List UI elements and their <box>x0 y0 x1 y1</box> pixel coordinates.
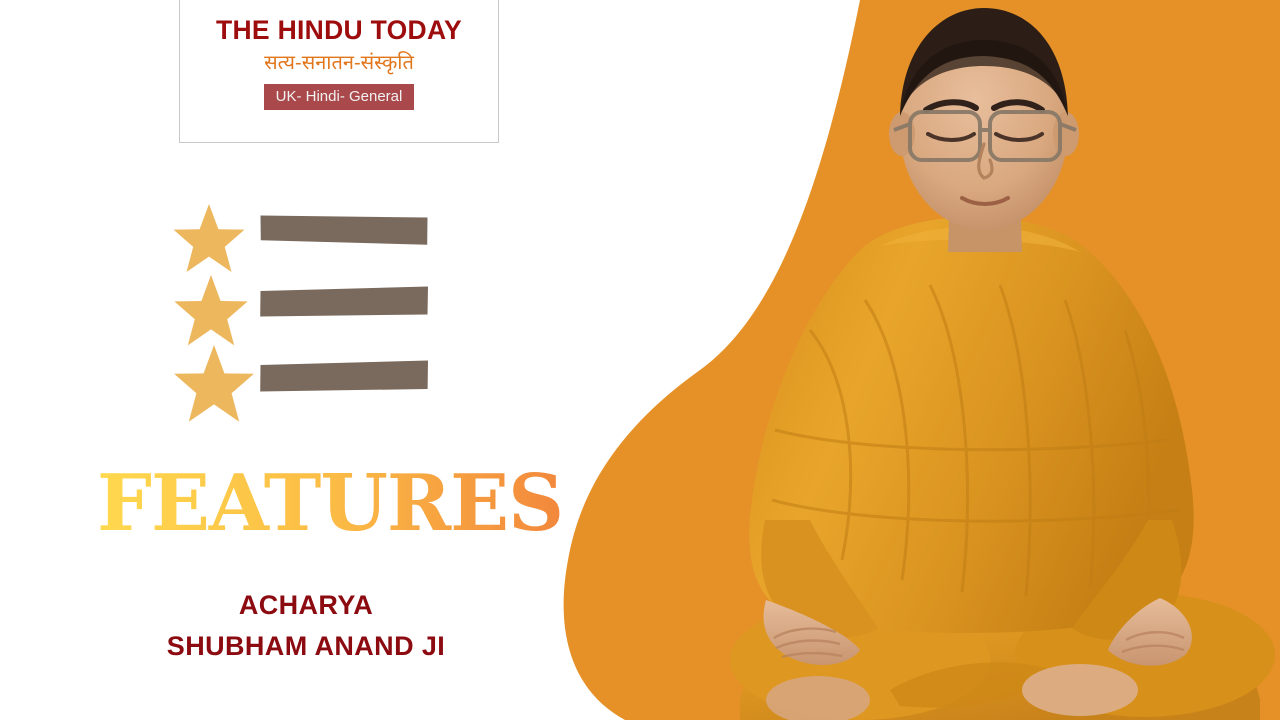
speaker-name-line-2: SHUBHAM ANAND JI <box>0 626 612 667</box>
masthead-card: THE HINDU TODAY सत्य-सनातन-संस्कृति UK- … <box>179 0 499 143</box>
masthead-subtitle: सत्य-सनातन-संस्कृति <box>264 51 414 75</box>
speaker-name-line-1: ACHARYA <box>0 585 612 626</box>
star-icon <box>174 204 245 272</box>
bar-placeholder <box>261 216 428 245</box>
bar-placeholder <box>260 287 428 317</box>
poster-canvas: THE HINDU TODAY सत्य-सनातन-संस्कृति UK- … <box>0 0 1280 720</box>
star-icon <box>174 345 254 422</box>
artwork-panel <box>560 0 1280 720</box>
status-badge: UK- Hindi- General <box>264 84 415 110</box>
list-item <box>178 198 448 268</box>
list-item <box>178 341 448 419</box>
features-wordmark: FEATURES <box>97 462 567 544</box>
bar-placeholder <box>260 361 428 392</box>
speaker-name: ACHARYA SHUBHAM ANAND JI <box>0 585 612 667</box>
features-text: FEATURES <box>97 462 563 544</box>
star-icon <box>174 275 247 345</box>
page-title: THE HINDU TODAY <box>216 17 462 45</box>
bullet-list <box>178 198 448 413</box>
list-item <box>178 269 448 341</box>
orange-blob <box>560 0 1280 720</box>
